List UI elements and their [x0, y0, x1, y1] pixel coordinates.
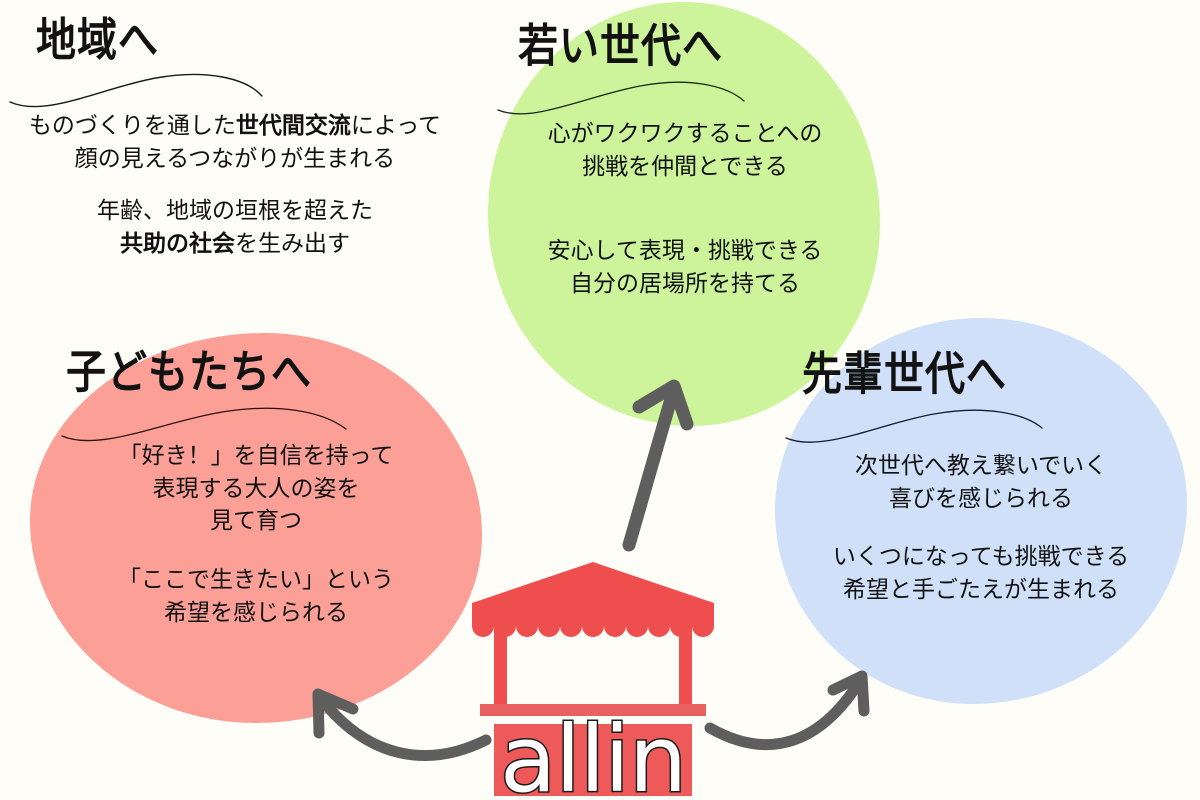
body-children: 「好き！」を自信を持って 表現する大人の姿を 見て育つ 「ここで生きたい」という… — [32, 440, 480, 629]
young-line-4: 自分の居場所を持てる — [570, 271, 800, 297]
body-young: 心がワクワクすることへの 挑戦を仲間とできる 安心して表現・挑戦できる 自分の居… — [490, 118, 880, 301]
community-line-4b: を生み出す — [235, 231, 350, 257]
community-line-3: 年齢、地域の垣根を超えた — [97, 198, 373, 224]
community-line-1a: ものづくりを通した — [29, 113, 236, 139]
allin-wordmark: allin — [500, 706, 686, 796]
community-line-1b: 世代間交流 — [236, 113, 351, 139]
children-line-3: 見て育つ — [210, 508, 302, 534]
heading-swoosh-community — [6, 62, 276, 108]
seniors-line-2: 喜びを感じられる — [889, 486, 1073, 512]
seniors-line-4: 希望と手ごたえが生まれる — [843, 577, 1119, 603]
stall-valance — [472, 615, 714, 637]
body-community: ものづくりを通した世代間交流によって 顔の見えるつながりが生まれる 年齢、地域の… — [0, 110, 470, 261]
heading-young-wrap: 若い世代へ — [518, 24, 723, 64]
community-line-4a: 共助の社会 — [120, 231, 235, 257]
young-line-2: 挑戦を仲間とできる — [582, 154, 788, 180]
infographic-canvas: 地域へ ものづくりを通した世代間交流によって 顔の見えるつながりが生まれる 年齢… — [0, 0, 1200, 800]
seniors-line-3: いくつになっても挑戦できる — [833, 544, 1129, 570]
community-line-2: 顔の見えるつながりが生まれる — [75, 146, 395, 172]
children-line-5: 希望を感じられる — [164, 600, 348, 626]
children-line-1: 「好き！」を自信を持って — [119, 443, 394, 469]
young-line-1: 心がワクワクすることへの — [548, 121, 823, 147]
children-line-4: 「ここで生きたい」という — [118, 567, 394, 593]
arrow-to-seniors-icon — [710, 676, 864, 745]
heading-young: 若い世代へ — [518, 24, 723, 70]
heading-community-wrap: 地域へ — [36, 18, 159, 58]
heading-seniors: 先輩世代へ — [802, 352, 1007, 398]
allin-logo: allin — [468, 556, 718, 796]
young-line-3: 安心して表現・挑戦できる — [548, 238, 823, 264]
heading-seniors-wrap: 先輩世代へ — [802, 352, 1007, 392]
heading-children: 子どもたちへ — [66, 350, 312, 396]
heading-children-wrap: 子どもたちへ — [66, 350, 312, 390]
children-line-2: 表現する大人の姿を — [153, 476, 360, 502]
heading-community: 地域へ — [36, 18, 159, 64]
stall-roof — [472, 562, 714, 618]
seniors-line-1: 次世代へ教え繋いでいく — [855, 453, 1107, 479]
body-seniors: 次世代へ教え繋いでいく 喜びを感じられる いくつになっても挑戦できる 希望と手ご… — [778, 450, 1184, 607]
community-line-1c: によって — [351, 113, 441, 139]
